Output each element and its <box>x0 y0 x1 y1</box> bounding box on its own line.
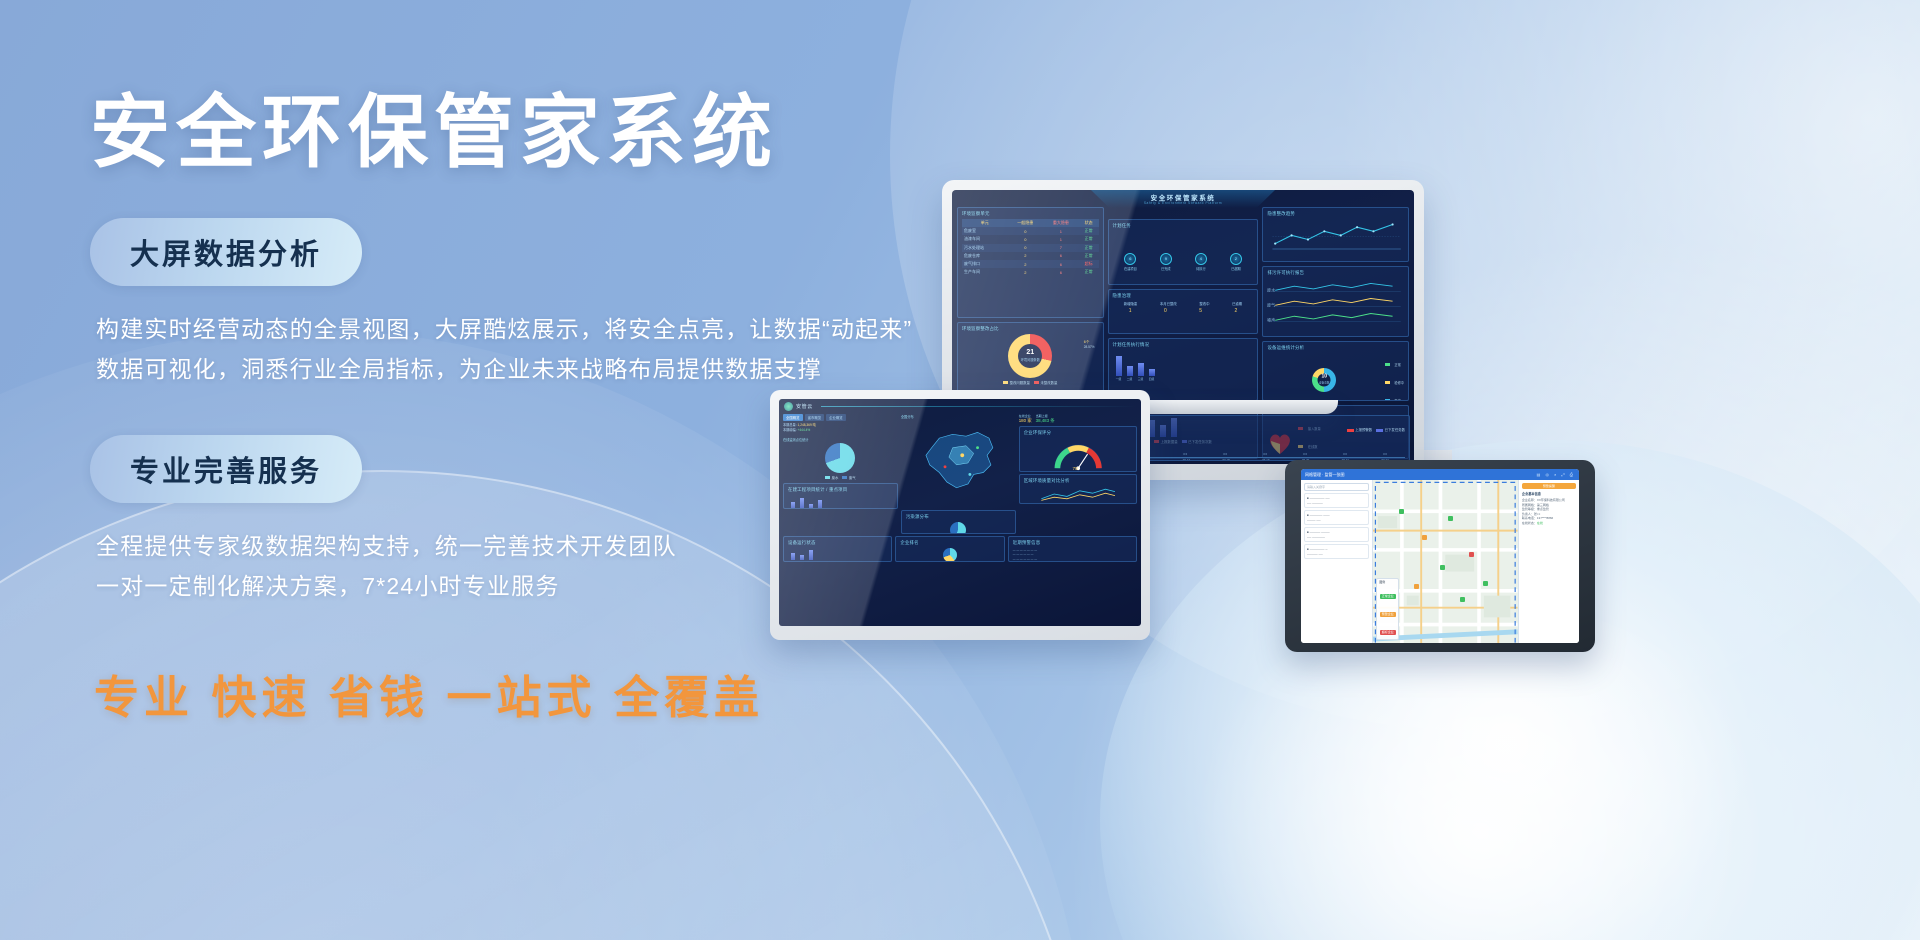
cell-state: 正常 <box>1079 244 1099 252</box>
task-label: 已完成 <box>1160 266 1172 271</box>
legend-item: 超标企业 <box>1379 620 1396 638</box>
legend-label: 正常 <box>1394 363 1400 367</box>
bar <box>1138 363 1144 376</box>
tablet-bezel: 网格管理 · 监管一张图 ▤ ◎ ⌕ ⤢ ⎙ 请输入关键字 ■ ─────── … <box>1285 460 1595 652</box>
laptop-gauge-card[interactable]: 企业环保评分 78 <box>1019 426 1137 472</box>
paragraph-service-line-2: 一对一定制化解决方案，7*24小时专业服务 <box>96 567 1020 607</box>
task-ring: 6 在建项目 <box>1124 253 1137 271</box>
gauge-chart: 78 <box>1024 438 1132 472</box>
info-label: 联系电话 <box>1522 516 1534 520</box>
zero-pair: 0 0 <box>1383 453 1387 456</box>
svg-text:废水: 废水 <box>1267 287 1275 293</box>
marketing-copy: 安全环保管家系统 大屏数据分析 构建实时经营动态的全景视图，大屏酷炫展示，将安全… <box>90 86 1020 726</box>
map-legend: 图例 正常企业 预警企业 超标企业 <box>1376 578 1399 640</box>
list-line: ── ────── <box>1307 535 1366 540</box>
trend-line-chart <box>1267 219 1404 254</box>
legend-label: 离线 <box>1394 399 1400 401</box>
card-trend-line[interactable]: 隐患整改趋势 <box>1262 207 1409 262</box>
card-plan-tasks[interactable]: 计划任务 6 在建项目 9 已完成 <box>1108 219 1259 285</box>
card-title: 设备运维统计分析 <box>1267 345 1404 351</box>
list-line: ───── ── <box>1307 552 1366 557</box>
cell-major: 7 <box>1043 244 1079 252</box>
risk-header: 新增隐患 <box>1124 301 1138 306</box>
paragraph-service-line-1: 全程提供专家级数据架构支持，统一完善技术开发团队 <box>96 527 1020 567</box>
panel-title: 企业基本信息 <box>1522 491 1576 496</box>
map-marker-normal[interactable] <box>1440 565 1445 570</box>
tablet: 网格管理 · 监管一张图 ▤ ◎ ⌕ ⤢ ⎙ 请输入关键字 ■ ─────── … <box>1285 460 1595 652</box>
risk-value: 0 <box>1164 308 1167 314</box>
bar <box>1149 369 1155 376</box>
map-marker-warning[interactable] <box>1414 584 1419 589</box>
tablet-right-panel: 预警提醒 企业基本信息 企业名称：XX环保科技有限公司 所属网格：第三网格 监管… <box>1518 480 1579 643</box>
card-title: 近期预警信息 <box>1013 540 1132 546</box>
card-title: 隐患整改趋势 <box>1267 211 1404 217</box>
axis-label: 三级 <box>1138 377 1144 381</box>
card-title: 企业环保评分 <box>1024 430 1132 436</box>
spacer <box>90 389 1020 435</box>
legend-label: 未整改数量 <box>1040 381 1057 385</box>
tablet-left-list: 请输入关键字 ■ ─────── ── ── ───── ■ ────── ──… <box>1301 480 1373 643</box>
bar <box>1116 356 1122 376</box>
legend-item: 未整改数量 <box>1034 380 1057 385</box>
task-ring: 9 已完成 <box>1160 253 1172 271</box>
axis-label: 二级 <box>1127 377 1133 381</box>
cell-major: 6 <box>1043 268 1079 276</box>
stat-value: 38,483 条 <box>1036 418 1055 424</box>
paragraph-analytics-line-1: 构建实时经营动态的全景视图，大屏酷炫展示，将安全点亮，让数据“动起来” <box>96 310 1020 350</box>
search-input[interactable]: 请输入关键字 <box>1304 483 1369 491</box>
axis-label: 一级 <box>1116 377 1122 381</box>
list-item[interactable]: ■ ─────── ── ── ───── <box>1304 493 1369 508</box>
laptop-panel-2[interactable]: 区域环境质量对比分析 <box>1019 474 1137 504</box>
device-donut: 10 设备总数 <box>1312 368 1336 392</box>
zero-pair: 0 0 <box>1183 453 1187 456</box>
alert-line: — — — — — — — <box>1013 557 1132 561</box>
mini-line <box>1024 486 1132 502</box>
callout-pct: 28.57% <box>1084 345 1095 349</box>
paragraph-analytics: 构建实时经营动态的全景视图，大屏酷炫展示，将安全点亮，让数据“动起来” 数据可视… <box>96 310 1020 389</box>
cell-state: 超标 <box>1079 260 1099 268</box>
task-label: 在建项目 <box>1124 266 1137 271</box>
tablet-map-layout: 请输入关键字 ■ ─────── ── ── ───── ■ ────── ──… <box>1301 480 1579 643</box>
paragraph-service: 全程提供专家级数据架构支持，统一完善技术开发团队 一对一定制化解决方案，7*24… <box>96 527 1020 606</box>
info-value: 在线 <box>1537 521 1543 525</box>
legend-item: 离线 <box>1385 389 1404 401</box>
status-badge: 预警提醒 <box>1522 483 1576 489</box>
donut-center: 21 环境问题条数 <box>1018 344 1042 368</box>
zero-pair: 0 0 <box>1343 453 1347 456</box>
map-canvas[interactable]: 图例 正常企业 预警企业 超标企业 <box>1373 480 1518 643</box>
risk-header: 本月已整改 <box>1160 301 1177 306</box>
x-tick: 03-19 <box>1262 458 1269 461</box>
risk-header: 已逾期 <box>1232 301 1242 306</box>
legend-item: 检修中 <box>1385 371 1404 389</box>
daily-plot: 0 0 0 0 0 0 0 0 0 0 0 0 0 0 <box>1124 432 1405 458</box>
card-permit-report[interactable]: 排污许可执行报告 废水 废气 <box>1262 266 1409 337</box>
info-value: 137****8866 <box>1537 516 1553 520</box>
risk-value: 2 <box>1234 308 1237 314</box>
laptop-stats: 在线企业 180 家 当期上报 38,483 条 <box>1019 414 1137 424</box>
list-item[interactable]: ■ ────── ─── ──── ── <box>1304 510 1369 525</box>
list-item[interactable]: ■ ─────── ─ ───── ── <box>1304 544 1369 559</box>
stat-block: 当期上报 38,483 条 <box>1036 414 1055 424</box>
cell-state: 正常 <box>1079 235 1099 243</box>
svg-text:噪声: 噪声 <box>1267 317 1275 323</box>
task-exec-bars <box>1113 350 1254 376</box>
task-exec-axis: 一级 二级 三级 四级 <box>1113 376 1254 382</box>
x-tick: 03-17 <box>1183 458 1190 461</box>
th-major: 重大隐患 <box>1043 219 1079 227</box>
paragraph-analytics-line-2: 数据可视化，洞悉行业全局指标，为企业未来战略布局提供数据支撑 <box>96 350 1020 390</box>
card-title: 计划任务 <box>1113 223 1254 229</box>
map-marker-normal[interactable] <box>1460 597 1465 602</box>
alert-list: — — — — — — — — — — — — — — — — — — — — <box>1013 548 1132 561</box>
info-label: 负责人 <box>1522 512 1531 516</box>
device-mockups: 安全环保管家系统 Safety & Environment Steward Pl… <box>930 150 1890 810</box>
legend-item: 预警企业 <box>1379 602 1396 620</box>
axis-label: 四级 <box>1149 377 1155 381</box>
cell-major: 6 <box>1043 260 1079 268</box>
legend-chip: 正常企业 <box>1380 594 1396 599</box>
task-ring: 2 已超期 <box>1230 253 1242 271</box>
risk-headers: 新增隐患 本月已整改 整改中 已逾期 <box>1113 301 1254 306</box>
cell-major: 1 <box>1043 227 1079 235</box>
laptop-panel-6[interactable]: 近期预警信息 — — — — — — — — — — — — — — — — —… <box>1008 536 1137 562</box>
donut-label: 环境问题条数 <box>1021 357 1040 362</box>
card-title: 计划任务执行情况 <box>1113 342 1254 348</box>
cell-major: 1 <box>1043 235 1079 243</box>
toolbar-icons[interactable]: ▤ ◎ ⌕ ⤢ ⎙ <box>1537 472 1575 477</box>
stat-value: 180 家 <box>1019 418 1032 424</box>
x-tick: 03-18 <box>1222 458 1229 461</box>
map-marker-normal[interactable] <box>1483 581 1488 586</box>
badge-big-screen-analytics: 大屏数据分析 <box>90 218 362 286</box>
task-label: 已超期 <box>1230 266 1242 271</box>
legend-item: 正常企业 <box>1379 584 1396 602</box>
risk-header: 整改中 <box>1199 301 1209 306</box>
th-state: 状态 <box>1079 219 1099 227</box>
tablet-app-title: 网格管理 · 监管一张图 <box>1305 472 1345 478</box>
legend-chip: 超标企业 <box>1380 630 1396 635</box>
map-marker-normal[interactable] <box>1448 516 1453 521</box>
cell-state: 正常 <box>1079 268 1099 276</box>
donut-value: 21 <box>1026 349 1034 356</box>
tagline: 专业 快速 省钱 一站式 全覆盖 <box>94 661 1020 726</box>
card-device-pie[interactable]: 设备运维统计分析 10 设备总数 正常 <box>1262 341 1409 401</box>
risk-values: 1 0 5 2 <box>1113 308 1254 314</box>
legend-label: 检修中 <box>1394 381 1404 385</box>
dashboard-subtitle: Safety & Environment Steward Platform <box>952 201 1414 205</box>
card-title: 排污许可执行报告 <box>1267 270 1404 276</box>
card-title: 区域环境质量对比分析 <box>1024 478 1132 484</box>
permit-multiline-chart: 废水 废气 噪声 <box>1267 278 1404 324</box>
risk-value: 5 <box>1199 308 1202 314</box>
map-marker-normal[interactable] <box>1399 509 1404 514</box>
risk-value: 1 <box>1129 308 1132 314</box>
list-line: ── ───── <box>1307 501 1366 506</box>
laptop-right-panel: 在线企业 180 家 当期上报 38,483 条 企业环保评分 <box>1019 414 1137 534</box>
badge-professional-service: 专业完善服务 <box>90 435 362 503</box>
task-value: 9 <box>1160 253 1172 265</box>
daily-chart: 1 0.8 0.6 0.4 0.2 0 0 0 0 0 0 0 <box>1119 432 1405 458</box>
svg-text:废气: 废气 <box>1267 302 1275 308</box>
stat-block: 在线企业 180 家 <box>1019 414 1032 424</box>
info-label: 所属网格 <box>1522 503 1534 507</box>
map-marker-exceed[interactable] <box>1469 552 1474 557</box>
donut-value: 10 <box>1321 375 1327 380</box>
zero-pair: 0 0 <box>1263 453 1267 456</box>
task-value: 2 <box>1230 253 1242 265</box>
device-pie-legend: 正常 检修中 离线 <box>1385 353 1404 401</box>
donut-center: 10 设备总数 <box>1318 373 1331 386</box>
device-pie-row: 10 设备总数 正常 检修中 离线 <box>1267 353 1404 401</box>
info-value: 第三网格 <box>1537 503 1549 507</box>
info-label: 企业名称 <box>1522 498 1534 502</box>
donut-label: 设备总数 <box>1319 381 1329 385</box>
tablet-topbar: 网格管理 · 监管一张图 ▤ ◎ ⌕ ⤢ ⎙ <box>1301 469 1579 480</box>
task-value: 4 <box>1195 253 1207 265</box>
gauge-value: 78 <box>1072 466 1078 472</box>
list-line: ──── ── <box>1307 518 1366 523</box>
zero-pair: 0 0 <box>1303 453 1307 456</box>
info-label: 在线状态 <box>1522 521 1534 525</box>
card-title: 隐患趋势 <box>1119 419 1405 425</box>
list-item[interactable]: ■ ───── ──── ── ────── <box>1304 527 1369 542</box>
map-marker-warning[interactable] <box>1422 535 1427 540</box>
donut-callout: 6个 28.57% <box>1084 340 1095 349</box>
card-title: 隐患治理 <box>1113 293 1254 299</box>
cell-major: 6 <box>1043 252 1079 260</box>
card-daily-bar[interactable]: 隐患趋势 上报预警数 已下发任务数 1 0.8 0.6 0.4 0.2 <box>1114 415 1410 461</box>
info-row: 在线状态：在线 <box>1522 521 1576 526</box>
task-value: 6 <box>1124 253 1136 265</box>
info-label: 监管等级 <box>1522 507 1534 511</box>
info-value: 张×× <box>1534 512 1541 516</box>
legend-item: 正常 <box>1385 353 1404 371</box>
info-value: 重点监管 <box>1537 507 1549 511</box>
bar <box>1127 366 1133 376</box>
tablet-screen: 网格管理 · 监管一张图 ▤ ◎ ⌕ ⤢ ⎙ 请输入关键字 ■ ─────── … <box>1301 469 1579 643</box>
legend-chip: 预警企业 <box>1380 612 1396 617</box>
page-title: 安全环保管家系统 <box>90 86 1020 180</box>
task-label: 待执行 <box>1195 266 1207 271</box>
zero-pair: 0 0 <box>1223 453 1227 456</box>
info-value: XX环保科技有限公司 <box>1537 498 1565 502</box>
cell-state: 正常 <box>1079 227 1099 235</box>
promo-banner: 安全环保管家系统 大屏数据分析 构建实时经营动态的全景视图，大屏酷炫展示，将安全… <box>0 0 1920 940</box>
card-hazard-governance[interactable]: 隐患治理 新增隐患 本月已整改 整改中 已逾期 1 0 <box>1108 289 1259 334</box>
cell-state: 正常 <box>1079 252 1099 260</box>
task-ring: 4 待执行 <box>1195 253 1207 271</box>
task-rings: 6 在建项目 9 已完成 4 待执行 <box>1113 231 1254 271</box>
